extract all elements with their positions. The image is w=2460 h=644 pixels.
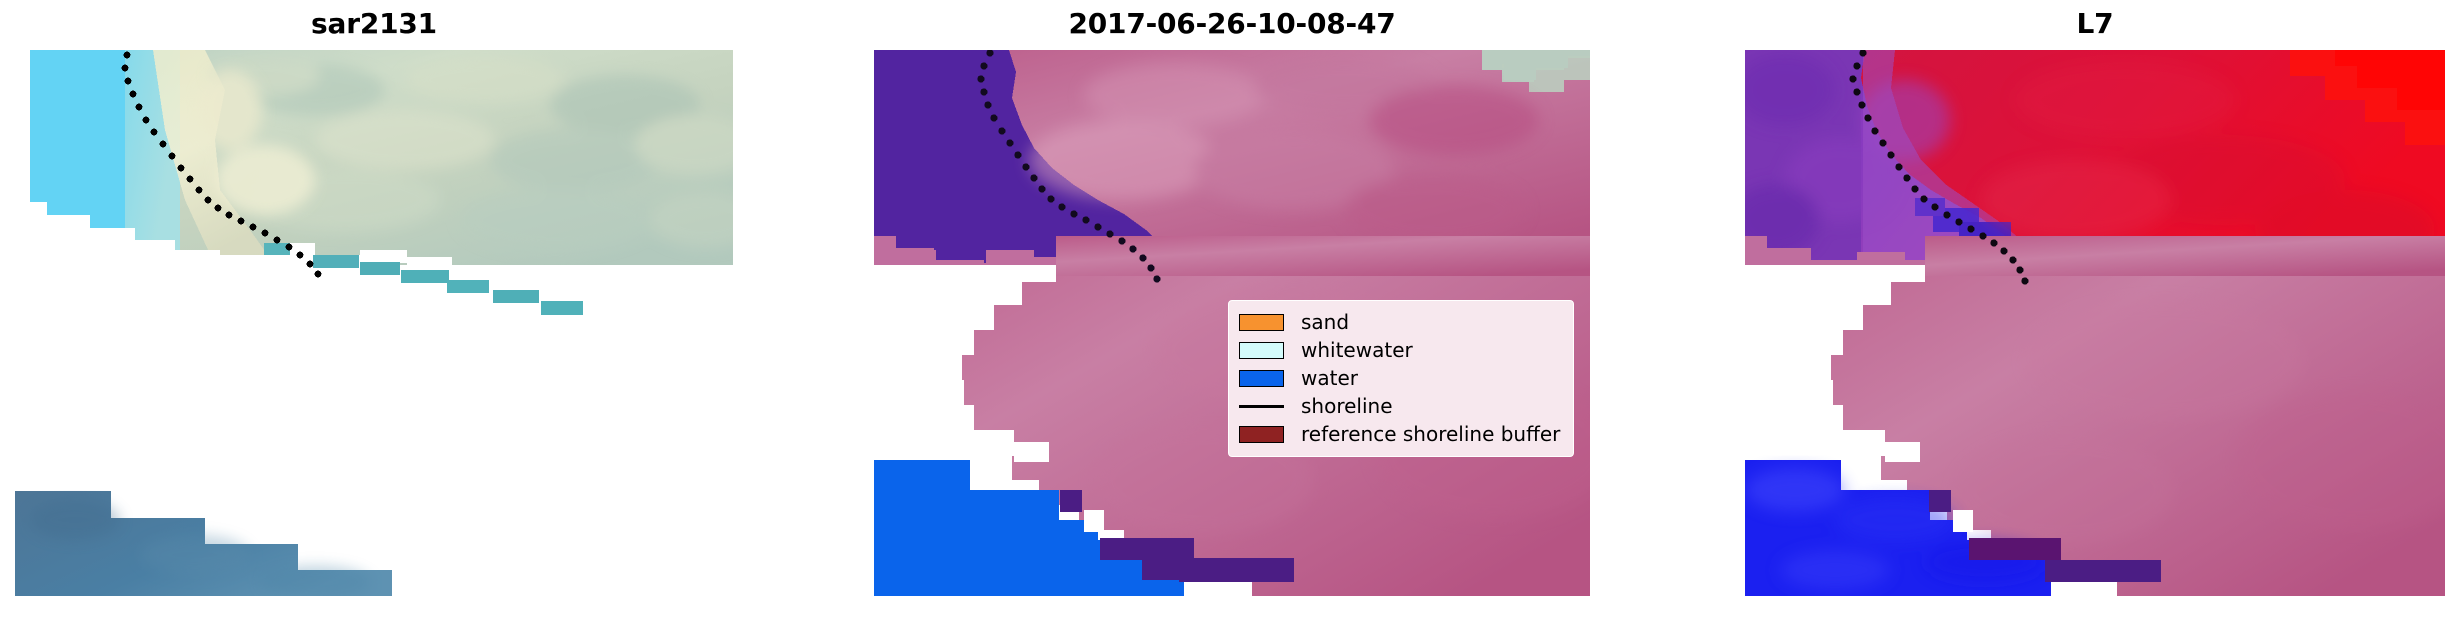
legend-label-sand: sand (1301, 312, 1349, 332)
legend: sand whitewater water shoreline referenc… (1228, 300, 1574, 457)
legend-item-sand: sand (1239, 308, 1563, 336)
panel-2017-06-26-10-08-47: 2017-06-26-10-08-47 (874, 0, 1590, 644)
legend-label-shoreline: shoreline (1301, 396, 1393, 416)
whitewater-swatch (1239, 342, 1284, 359)
legend-item-reference-buffer: reference shoreline buffer (1239, 420, 1563, 448)
panel-title-l7: L7 (1745, 2, 2445, 46)
axes-l7 (1745, 50, 2445, 596)
reference-shoreline-buffer-swatch (1239, 426, 1284, 443)
l7-image (1745, 50, 2445, 596)
panel-title-date: 2017-06-26-10-08-47 (874, 2, 1590, 46)
shoreline-line-swatch (1239, 398, 1284, 415)
water-swatch (1239, 370, 1284, 387)
legend-label-whitewater: whitewater (1301, 340, 1413, 360)
legend-item-whitewater: whitewater (1239, 336, 1563, 364)
legend-label-water: water (1301, 368, 1358, 388)
figure-canvas: sar2131 (0, 0, 2460, 644)
panel-title-sar2131: sar2131 (15, 2, 733, 46)
sand-swatch (1239, 314, 1284, 331)
panel-l7: L7 (1745, 0, 2445, 644)
axes-sar2131 (15, 50, 733, 596)
legend-label-reference-buffer: reference shoreline buffer (1301, 424, 1560, 444)
panel-sar2131: sar2131 (15, 0, 733, 644)
sar2131-image (15, 50, 733, 596)
legend-item-shoreline: shoreline (1239, 392, 1563, 420)
legend-item-water: water (1239, 364, 1563, 392)
